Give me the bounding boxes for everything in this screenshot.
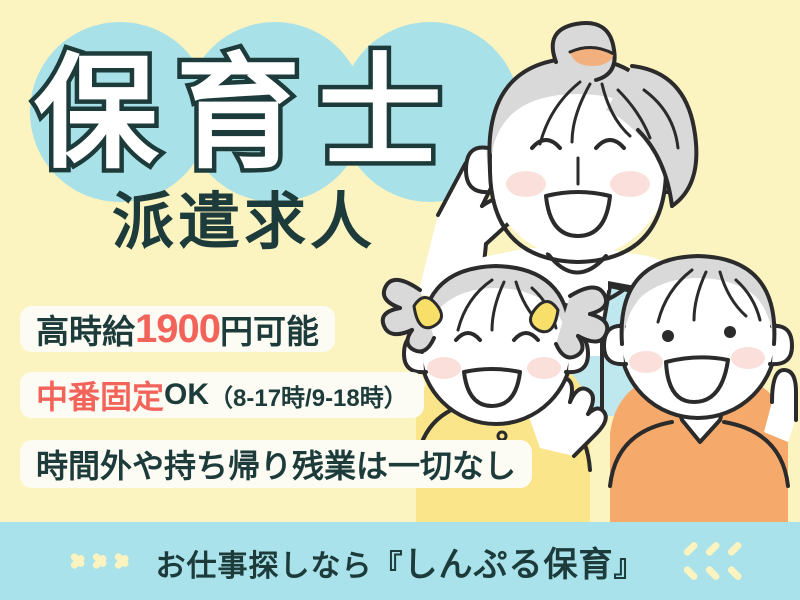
footer-text-before: お仕事探しなら『 — [156, 550, 404, 583]
footer-text-after: 』 — [614, 550, 645, 583]
badge-highlight-text: 中番固定 — [36, 372, 164, 418]
page-title: 保育士 — [34, 34, 534, 194]
page-subtitle: 派遣求人 — [112, 192, 376, 254]
footer-tagline: お仕事探しなら『しんぷる保育』 — [156, 537, 645, 586]
chevrons-right-group — [70, 546, 130, 576]
chevrons-left-group — [671, 546, 731, 576]
chevron-left-icon — [715, 546, 731, 576]
poster-root: .ln{fill:none;stroke:#2B2B2B;stroke-widt… — [0, 0, 800, 600]
badge-hourly-wage: 高時給 1900 円可能 — [20, 306, 335, 352]
chevron-right-icon — [70, 546, 86, 576]
badge-no-overtime: 時間外や持ち帰り残業は一切なし — [20, 440, 532, 488]
chevron-right-icon — [114, 546, 130, 576]
badge-tail-text: （8-17時/9-18時） — [209, 378, 408, 413]
chevron-right-icon — [92, 546, 108, 576]
badge-highlight-text: 1900 — [135, 307, 220, 352]
badge-lead-text: 高時給 — [36, 305, 135, 353]
footer-banner: お仕事探しなら『しんぷる保育』 — [0, 522, 800, 600]
badge-shift-fixed: 中番固定 OK （8-17時/9-18時） — [20, 372, 424, 418]
badge-lead-text: OK — [164, 378, 209, 412]
badge-tail-text: 円可能 — [220, 305, 319, 353]
chevron-left-icon — [671, 546, 687, 576]
brand-name: しんぷる保育 — [404, 546, 614, 584]
badge-lead-text: 時間外や持ち帰り残業は一切なし — [36, 441, 516, 487]
chevron-left-icon — [693, 546, 709, 576]
